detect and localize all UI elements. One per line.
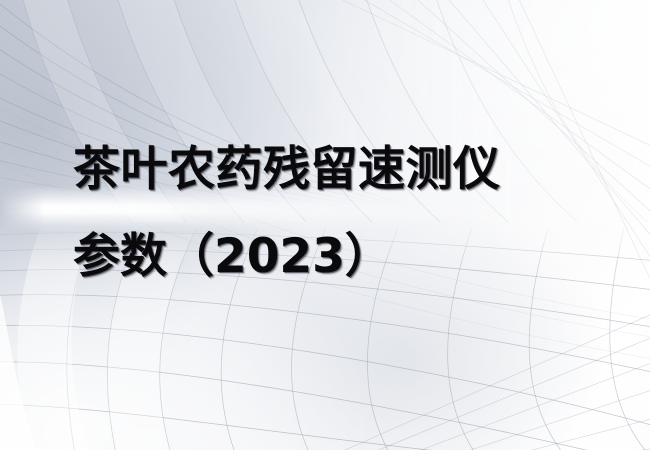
title-banner: 茶叶农药残留速测仪 参数（2023） [0,0,650,450]
banner-title: 茶叶农药残留速测仪 参数（2023） [73,126,593,300]
title-line-1: 茶叶农药残留速测仪 [73,126,593,213]
title-line-2: 参数（2023） [73,213,593,300]
